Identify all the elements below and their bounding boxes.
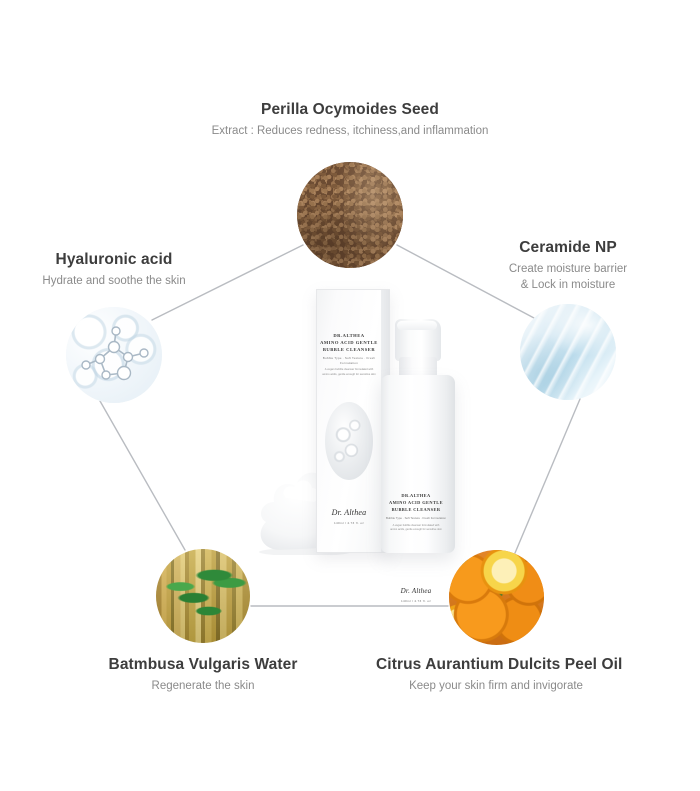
carton-bubble-graphic	[325, 402, 373, 480]
bottle-footer: Dr. Althea 140ml / 4.73 fl. oz	[385, 587, 447, 603]
ingredient-node-bamboo	[156, 549, 250, 643]
bottle-name-line1: AMINO ACID GENTLE	[385, 500, 447, 507]
hyaluronic-title: Hyaluronic acid	[14, 250, 214, 269]
label-hyaluronic: Hyaluronic acid Hydrate and soothe the s…	[14, 250, 214, 290]
carton-description-line2: amino acids, gentle enough for sensitive…	[317, 373, 381, 377]
carton-volume: 140ml / 4.73 fl. oz	[317, 521, 381, 525]
label-perilla: Perilla Ocymoides Seed Extract : Reduces…	[150, 100, 550, 140]
hyaluronic-subtitle: Hydrate and soothe the skin	[14, 274, 214, 290]
ceramide-subtitle-line2: & Lock in moisture	[468, 278, 668, 294]
label-citrus: Citrus Aurantium Dulcits Peel Oil Keep y…	[376, 655, 616, 695]
citrus-subtitle: Keep your skin firm and invigorate	[376, 679, 616, 695]
hyaluronic-molecule-image	[66, 307, 162, 403]
bamboo-subtitle: Regenerate the skin	[93, 679, 313, 695]
carton-description-line1: A vegan bubble cleanser formulated with	[317, 368, 381, 372]
ceramide-gel-image	[520, 304, 616, 400]
line-bamboo-to-hyaluronic	[100, 401, 185, 550]
carton-script-logo: Dr. Althea	[317, 508, 381, 517]
perilla-seeds-image	[297, 162, 403, 268]
bottle-front-text: DR.ALTHEA AMINO ACID GENTLE BUBBLE CLEAN…	[385, 493, 447, 532]
label-ceramide: Ceramide NP Create moisture barrier & Lo…	[468, 238, 668, 293]
ingredient-node-perilla	[297, 162, 403, 268]
ingredient-infographic: Perilla Ocymoides Seed Extract : Reduces…	[0, 0, 700, 791]
ingredient-node-ceramide	[520, 304, 616, 400]
product-group: DR.ALTHEA AMINO ACID GENTLE BUBBLE CLEAN…	[250, 275, 480, 575]
bottle-description-line2: amino acids, gentle enough for sensitive…	[385, 528, 447, 532]
carton-footer: Dr. Althea 140ml / 4.73 fl. oz	[317, 508, 381, 525]
bottle-name-line2: BUBBLE CLEANSER	[385, 507, 447, 514]
carton-name-line1: AMINO ACID GENTLE	[317, 339, 381, 346]
product-carton-box: DR.ALTHEA AMINO ACID GENTLE BUBBLE CLEAN…	[316, 289, 390, 553]
label-bamboo: Batmbusa Vulgaris Water Regenerate the s…	[93, 655, 313, 695]
carton-brand: DR.ALTHEA	[317, 332, 381, 339]
bottle-brand: DR.ALTHEA	[385, 493, 447, 500]
bamboo-stalks-image	[156, 549, 250, 643]
bottle-volume: 140ml / 4.73 fl. oz	[385, 599, 447, 603]
carton-front-text: DR.ALTHEA AMINO ACID GENTLE BUBBLE CLEAN…	[317, 332, 381, 377]
perilla-subtitle: Extract : Reduces redness, itchiness,and…	[150, 124, 550, 140]
bamboo-title: Batmbusa Vulgaris Water	[93, 655, 313, 674]
carton-meta: Bubble Type · Soft Texture · Fresh Formu…	[317, 356, 381, 365]
perilla-title: Perilla Ocymoides Seed	[150, 100, 550, 119]
ceramide-title: Ceramide NP	[468, 238, 668, 257]
pump-head	[395, 319, 441, 361]
carton-name-line2: BUBBLE CLEANSER	[317, 346, 381, 353]
bottle-script-logo: Dr. Althea	[385, 587, 447, 595]
citrus-title: Citrus Aurantium Dulcits Peel Oil	[376, 655, 616, 674]
line-ceramide-to-citrus	[515, 399, 580, 553]
foam-pump-bottle: DR.ALTHEA AMINO ACID GENTLE BUBBLE CLEAN…	[381, 313, 455, 553]
bottle-meta: Bubble Type · Soft Texture · Fresh Formu…	[385, 516, 447, 520]
ingredient-node-hyaluronic	[66, 307, 162, 403]
bottle-body: DR.ALTHEA AMINO ACID GENTLE BUBBLE CLEAN…	[381, 375, 455, 553]
ceramide-subtitle-line1: Create moisture barrier	[468, 262, 668, 278]
molecule-structure-icon	[66, 307, 162, 403]
